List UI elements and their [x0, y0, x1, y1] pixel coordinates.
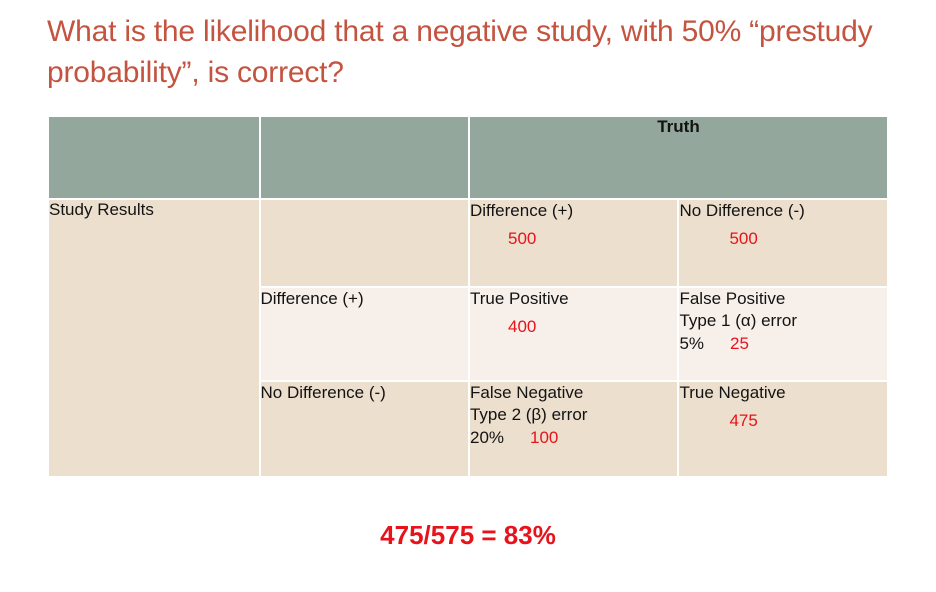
- row-group-label-study-results: Study Results: [49, 200, 259, 476]
- column-header-difference-negative-count: 500: [679, 228, 887, 250]
- table-column-definition-row: Study Results Difference (+) 500 No Diff…: [49, 200, 887, 286]
- column-header-difference-positive-label: Difference (+): [470, 201, 573, 220]
- truth-vs-study-results-matrix: Truth Study Results Difference (+) 500 N…: [47, 115, 889, 478]
- cell-false-negative-count: 100: [530, 428, 558, 447]
- cell-false-negative-error-type: Type 2 (β) error: [470, 405, 587, 424]
- column-header-difference-positive-count: 500: [470, 228, 677, 250]
- column-header-blank-cell: [261, 200, 468, 286]
- cell-false-negative: False Negative Type 2 (β) error 20%100: [470, 382, 677, 476]
- header-truth-label: Truth: [470, 117, 887, 198]
- column-header-difference-negative: No Difference (-) 500: [679, 200, 887, 286]
- column-header-difference-negative-label: No Difference (-): [679, 201, 804, 220]
- cell-false-positive-rate: 5%: [679, 334, 704, 353]
- cell-true-negative-label: True Negative: [679, 383, 785, 402]
- cell-false-positive-rate-line: 5%25: [679, 333, 887, 355]
- page-title: What is the likelihood that a negative s…: [47, 12, 877, 93]
- table-header-row: Truth: [49, 117, 887, 198]
- cell-true-positive-count: 400: [470, 316, 677, 338]
- header-row-label-cell: [261, 117, 468, 198]
- cell-false-positive-count: 25: [730, 334, 749, 353]
- row-label-difference-positive: Difference (+): [261, 288, 468, 380]
- cell-true-negative-count: 475: [679, 410, 887, 432]
- summary-equation: 475/575 = 83%: [0, 520, 936, 551]
- cell-false-positive-label: False Positive: [679, 289, 785, 308]
- column-header-difference-positive: Difference (+) 500: [470, 200, 677, 286]
- header-corner-cell: [49, 117, 259, 198]
- cell-false-positive: False Positive Type 1 (α) error 5%25: [679, 288, 887, 380]
- cell-false-negative-rate-line: 20%100: [470, 427, 677, 449]
- cell-true-positive: True Positive 400: [470, 288, 677, 380]
- cell-false-negative-rate: 20%: [470, 428, 504, 447]
- cell-true-negative: True Negative 475: [679, 382, 887, 476]
- cell-true-positive-label: True Positive: [470, 289, 569, 308]
- row-label-difference-negative: No Difference (-): [261, 382, 468, 476]
- cell-false-negative-label: False Negative: [470, 383, 583, 402]
- cell-false-positive-error-type: Type 1 (α) error: [679, 311, 797, 330]
